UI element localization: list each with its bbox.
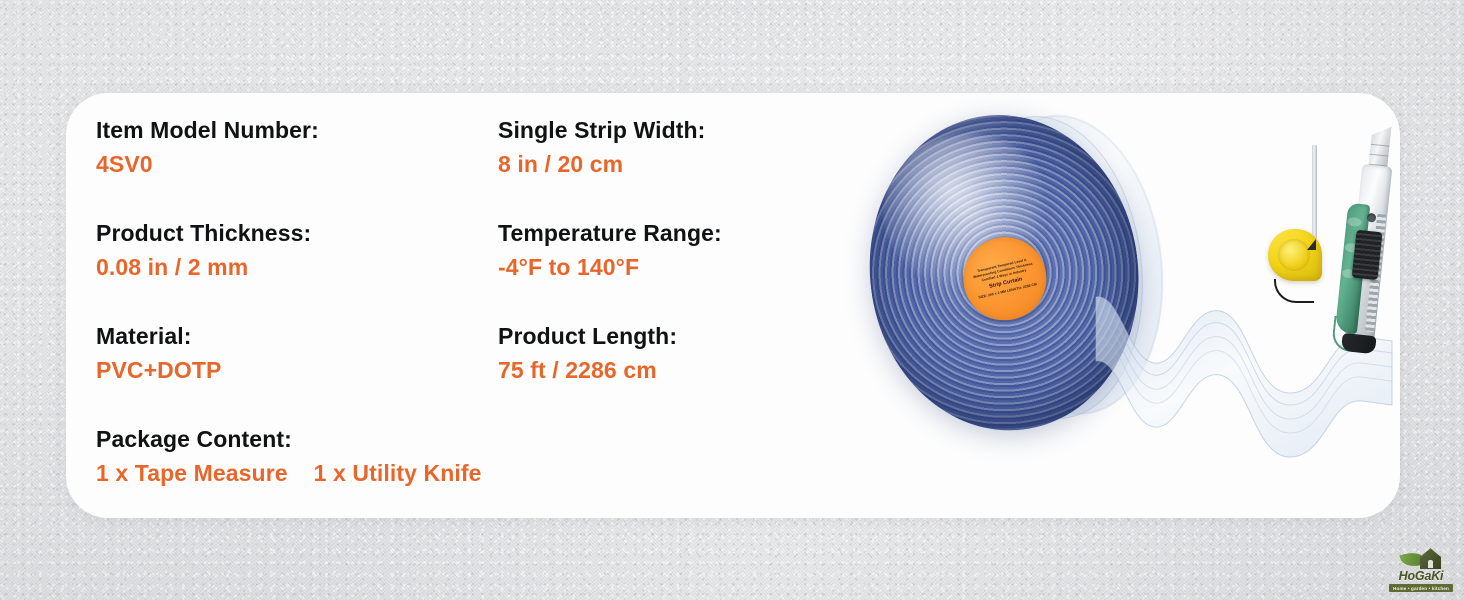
- package-content-items: 1 x Tape Measure 1 x Utility Knife: [96, 458, 482, 488]
- tape-measure-hub: [1278, 239, 1310, 271]
- grip-notch: [1347, 217, 1362, 227]
- blade-score-line: [1371, 144, 1390, 147]
- tape-measure-body: [1268, 229, 1322, 281]
- knife-slider: [1352, 230, 1383, 280]
- tape-measure-cord: [1274, 279, 1314, 303]
- spec-item-model-number: Item Model Number: 4SV0: [96, 115, 319, 179]
- brand-tagline: Home • garden • kitchen: [1389, 584, 1453, 592]
- brand-name: HoGaKi: [1399, 569, 1444, 583]
- spec-product-length: Product Length: 75 ft / 2286 cm: [498, 321, 677, 385]
- spec-value: 75 ft / 2286 cm: [498, 355, 677, 385]
- tape-blade: [1312, 145, 1317, 239]
- spec-label: Product Thickness:: [96, 218, 311, 248]
- spec-label: Temperature Range:: [498, 218, 722, 248]
- included-tools: [1266, 131, 1400, 391]
- spec-card: Item Model Number: 4SV0 Single Strip Wid…: [66, 93, 1400, 518]
- spec-value: 8 in / 20 cm: [498, 149, 705, 179]
- spec-temperature-range: Temperature Range: -4°F to 140°F: [498, 218, 722, 282]
- package-item: 1 x Tape Measure: [96, 458, 288, 488]
- spec-single-strip-width: Single Strip Width: 8 in / 20 cm: [498, 115, 705, 179]
- spec-value: -4°F to 140°F: [498, 252, 722, 282]
- spec-label: Material:: [96, 321, 221, 351]
- utility-knife-image: [1328, 129, 1400, 364]
- spec-label: Single Strip Width:: [498, 115, 705, 145]
- spec-label: Item Model Number:: [96, 115, 319, 145]
- spec-material: Material: PVC+DOTP: [96, 321, 221, 385]
- product-photo: Transparent Tempered Level A Waterproofi…: [826, 93, 1400, 518]
- spec-product-thickness: Product Thickness: 0.08 in / 2 mm: [96, 218, 311, 282]
- house-door-icon: [1428, 560, 1433, 568]
- spec-value: 4SV0: [96, 149, 319, 179]
- tape-measure-image: [1266, 207, 1336, 297]
- brand-logo: HoGaKi Home • garden • kitchen: [1384, 544, 1458, 592]
- spec-value: 0.08 in / 2 mm: [96, 252, 311, 282]
- spec-list: Item Model Number: 4SV0 Single Strip Wid…: [96, 115, 836, 505]
- blade-score-line: [1370, 154, 1389, 157]
- spec-value: PVC+DOTP: [96, 355, 221, 385]
- spec-label: Product Length:: [498, 321, 677, 351]
- leaf-house-icon: [1401, 548, 1441, 569]
- spec-label: Package Content:: [96, 424, 482, 454]
- spec-package-content: Package Content: 1 x Tape Measure 1 x Ut…: [96, 424, 482, 488]
- package-item: 1 x Utility Knife: [314, 458, 482, 488]
